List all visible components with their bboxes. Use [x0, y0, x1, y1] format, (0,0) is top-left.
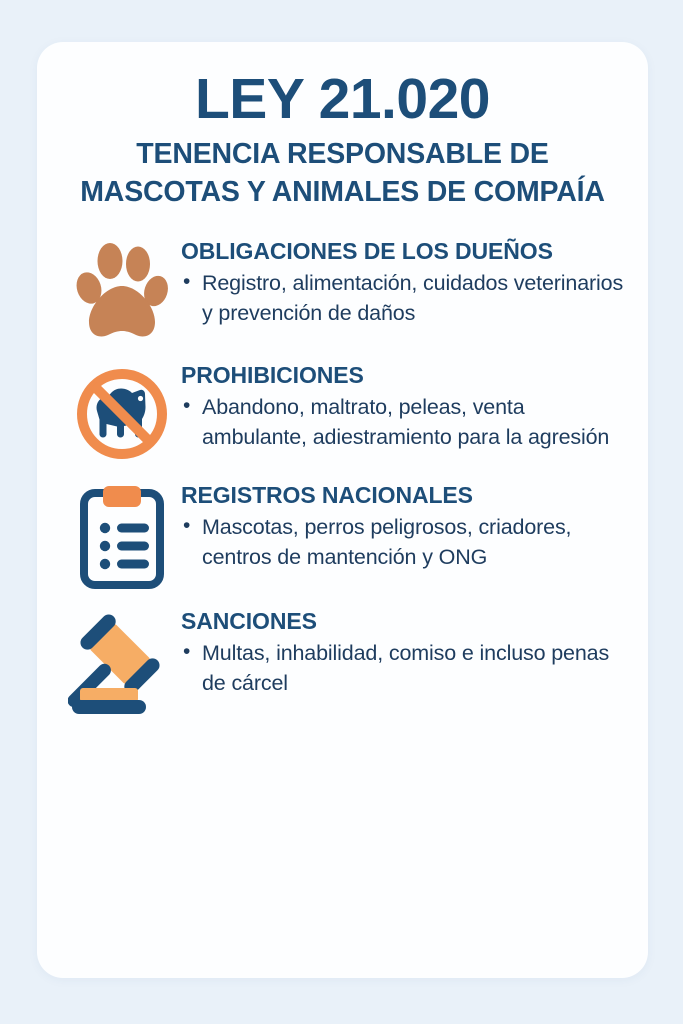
section-text: PROHIBICIONES Abandono, maltrato, peleas… — [181, 360, 630, 453]
page-subtitle-line2: MASCOTAS Y ANIMALES DE COMPAÍA — [63, 174, 622, 212]
section-icon-wrapper — [63, 360, 181, 464]
bullet-item: Abandono, maltrato, peleas, venta ambula… — [181, 393, 630, 452]
gavel-icon — [68, 610, 176, 714]
section-sanciones: SANCIONES Multas, inhabilidad, comiso e … — [63, 606, 630, 714]
section-text: OBLIGACIONES DE LOS DUEÑOS Registro, ali… — [181, 236, 630, 329]
page-title: LEY 21.020 — [63, 70, 622, 130]
bullet-item: Multas, inhabilidad, comiso e incluso pe… — [181, 639, 630, 698]
section-icon-wrapper — [63, 606, 181, 714]
section-prohibiciones: PROHIBICIONES Abandono, maltrato, peleas… — [63, 360, 630, 464]
sections-list: OBLIGACIONES DE LOS DUEÑOS Registro, ali… — [37, 236, 648, 714]
section-title: REGISTROS NACIONALES — [181, 482, 630, 510]
section-text: REGISTROS NACIONALES Mascotas, perros pe… — [181, 480, 630, 573]
section-title: SANCIONES — [181, 608, 630, 636]
poster-header: LEY 21.020 TENENCIA RESPONSABLE DE MASCO… — [37, 42, 648, 212]
section-icon-wrapper — [63, 480, 181, 590]
section-bullets: Multas, inhabilidad, comiso e incluso pe… — [181, 639, 630, 698]
page-subtitle: TENENCIA RESPONSABLE DE MASCOTAS Y ANIMA… — [63, 136, 622, 212]
section-obligaciones: OBLIGACIONES DE LOS DUEÑOS Registro, ali… — [63, 236, 630, 342]
section-registros-nacionales: REGISTROS NACIONALES Mascotas, perros pe… — [63, 480, 630, 590]
page-subtitle-line1: TENENCIA RESPONSABLE DE — [63, 136, 622, 174]
section-bullets: Mascotas, perros peligrosos, criadores, … — [181, 513, 630, 572]
section-bullets: Registro, alimentación, cuidados veterin… — [181, 269, 630, 328]
infographic-poster: LEY 21.020 TENENCIA RESPONSABLE DE MASCO… — [0, 0, 683, 1024]
bullet-item: Mascotas, perros peligrosos, criadores, … — [181, 513, 630, 572]
paw-print-icon — [76, 240, 168, 342]
bullet-item: Registro, alimentación, cuidados veterin… — [181, 269, 630, 328]
section-bullets: Abandono, maltrato, peleas, venta ambula… — [181, 393, 630, 452]
section-title: OBLIGACIONES DE LOS DUEÑOS — [181, 238, 630, 266]
section-title: PROHIBICIONES — [181, 362, 630, 390]
content-card: LEY 21.020 TENENCIA RESPONSABLE DE MASCO… — [37, 42, 648, 978]
section-text: SANCIONES Multas, inhabilidad, comiso e … — [181, 606, 630, 699]
clipboard-list-icon — [79, 484, 165, 590]
no-dog-icon — [72, 364, 172, 464]
section-icon-wrapper — [63, 236, 181, 342]
